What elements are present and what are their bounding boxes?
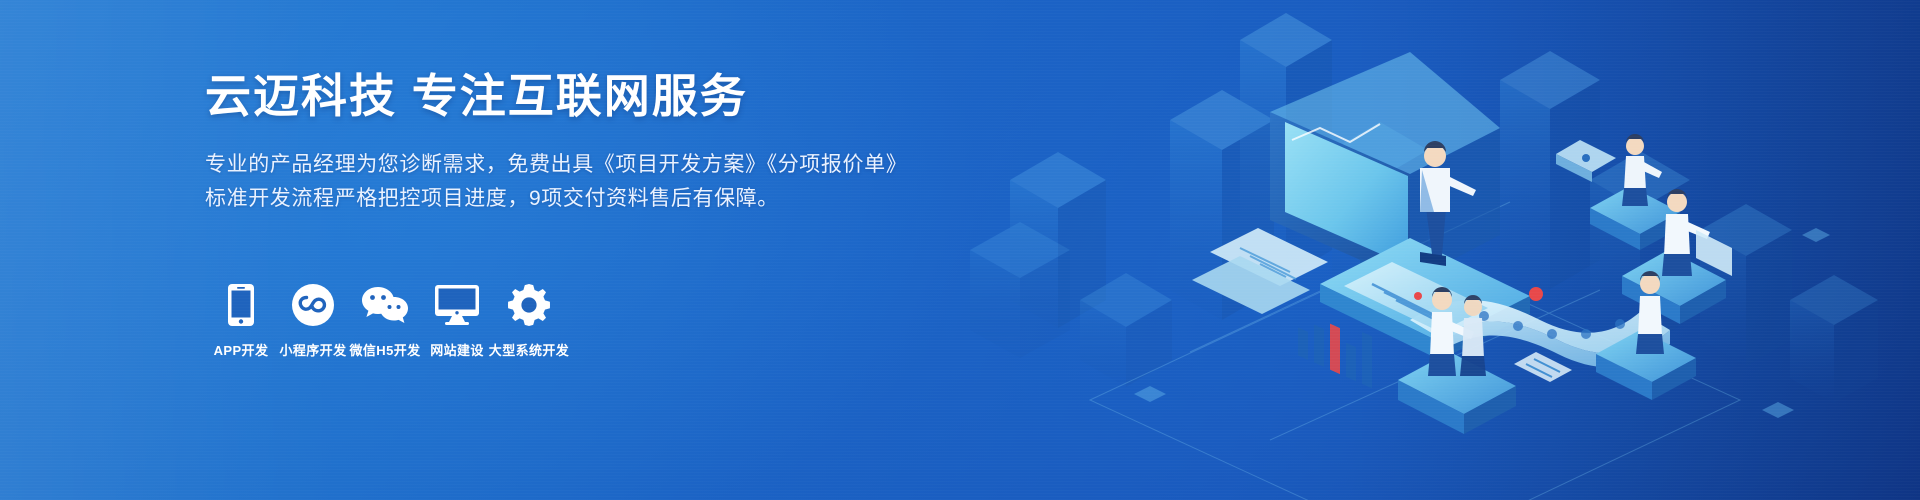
- service-label-miniprogram: 小程序开发: [279, 340, 346, 359]
- mobile-phone-icon: [228, 282, 254, 328]
- isometric-tech-illustration: [940, 0, 1920, 500]
- service-label-system: 大型系统开发: [489, 340, 569, 359]
- hero-banner: 云迈科技 专注互联网服务 专业的产品经理为您诊断需求，免费出具《项目开发方案》《…: [0, 0, 1920, 500]
- banner-subtitle: 专业的产品经理为您诊断需求，免费出具《项目开发方案》《分项报价单》 标准开发流程…: [205, 148, 925, 216]
- banner-headline: 云迈科技 专注互联网服务: [205, 68, 925, 124]
- banner-text-block: 云迈科技 专注互联网服务 专业的产品经理为您诊断需求，免费出具《项目开发方案》《…: [205, 68, 925, 216]
- service-item-miniprogram[interactable]: 小程序开发: [277, 282, 349, 359]
- banner-subtitle-line-1: 专业的产品经理为您诊断需求，免费出具《项目开发方案》《分项报价单》: [205, 148, 925, 182]
- mini-program-icon: [292, 282, 334, 328]
- service-label-app: APP开发: [214, 340, 269, 359]
- service-item-app[interactable]: APP开发: [205, 282, 277, 359]
- service-label-wechat: 微信H5开发: [349, 340, 420, 359]
- monitor-icon: [435, 282, 479, 328]
- banner-subtitle-line-2: 标准开发流程严格把控项目进度，9项交付资料售后有保障。: [205, 182, 925, 216]
- service-item-wechat[interactable]: 微信H5开发: [349, 282, 421, 359]
- service-label-website: 网站建设: [430, 340, 484, 359]
- wechat-icon: [361, 282, 409, 328]
- gear-icon: [508, 282, 550, 328]
- service-list: APP开发 小程序开发 微信: [205, 282, 565, 359]
- service-item-system[interactable]: 大型系统开发: [493, 282, 565, 359]
- service-item-website[interactable]: 网站建设: [421, 282, 493, 359]
